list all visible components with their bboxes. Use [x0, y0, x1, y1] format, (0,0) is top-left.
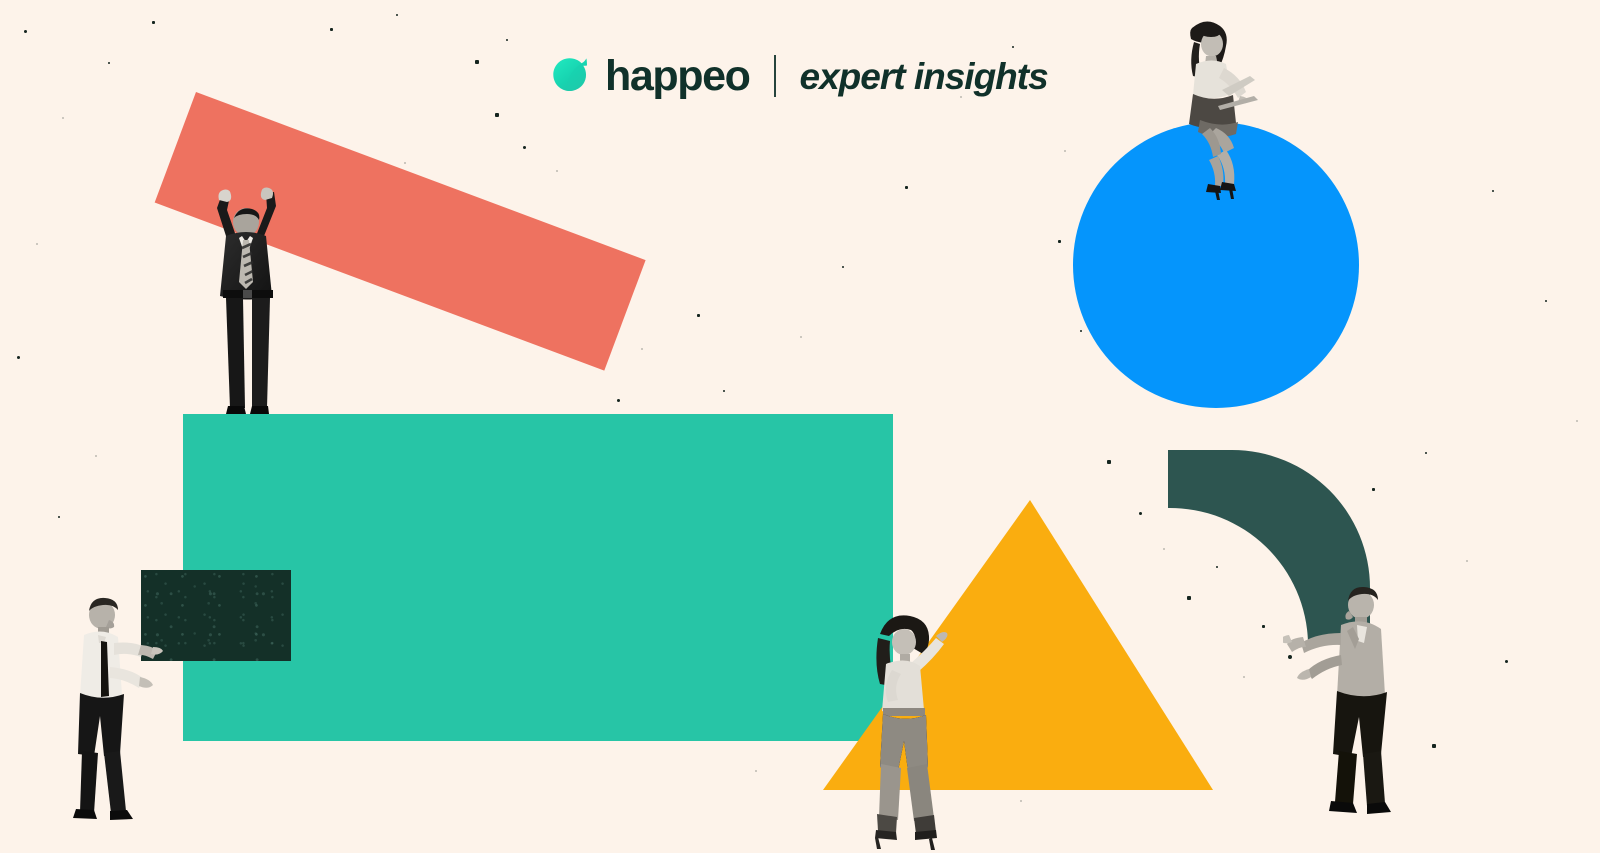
woman-reaching-yellow-triangle [862, 608, 964, 853]
logo-divider [774, 55, 776, 97]
woman-with-laptop-on-circle [1156, 16, 1266, 202]
businessman-lifting-coral-bar [186, 178, 306, 418]
logo-tagline: expert insights [800, 58, 1048, 95]
man-pushing-dark-square [58, 585, 170, 830]
man-reaching-teal-arc [1283, 573, 1398, 823]
hero-banner-canvas: happeo expert insights [0, 0, 1600, 853]
happeo-expert-insights-logo[interactable]: happeo expert insights [551, 47, 1048, 105]
happeo-droplet-logo-icon [551, 56, 591, 96]
logo-wordmark: happeo [605, 55, 750, 98]
